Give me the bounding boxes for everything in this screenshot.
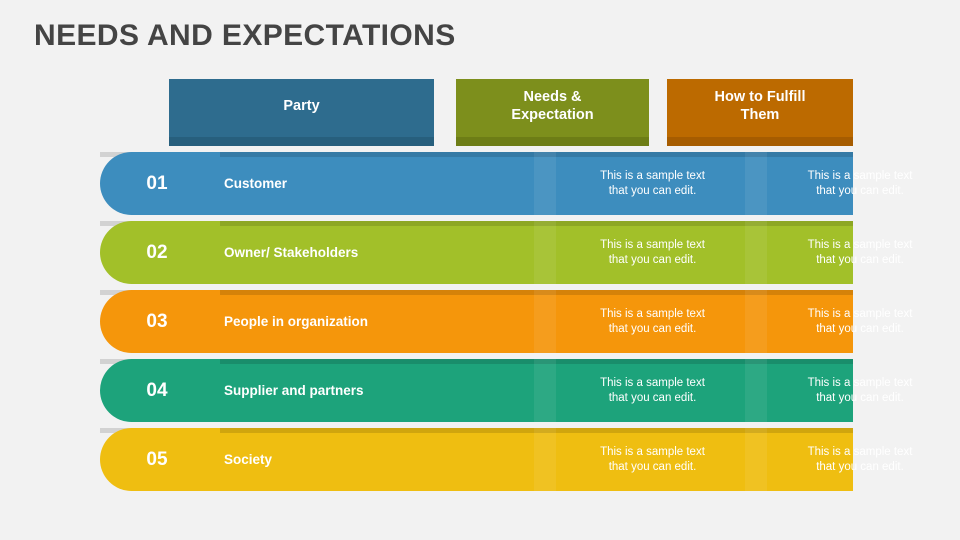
row-fulfill-cell: This is a sample text that you can edit. <box>767 221 953 284</box>
row-separator <box>100 353 853 359</box>
column-header-needs: Needs & Expectation <box>456 79 649 137</box>
column-header-needs-bevel <box>456 137 649 146</box>
table-row[interactable]: 05 Society This is a sample text that yo… <box>100 428 853 491</box>
row-number-label: 01 <box>146 173 167 195</box>
column-header-fulfill: How to Fulfill Them <box>667 79 853 137</box>
column-header-party: Party <box>169 79 434 137</box>
row-number-label: 05 <box>146 449 167 471</box>
row-needs-cell: This is a sample text that you can edit. <box>556 359 749 422</box>
column-header-needs-label: Needs & Expectation <box>511 88 593 124</box>
row-number-badge: 03 <box>100 290 220 353</box>
row-number-badge: 04 <box>100 359 220 422</box>
row-party-label: Supplier and partners <box>224 359 364 422</box>
row-body <box>176 428 853 491</box>
table-row[interactable]: 01 Customer This is a sample text that y… <box>100 152 853 215</box>
row-needs-cell: This is a sample text that you can edit. <box>556 290 749 353</box>
column-header-fulfill-label: How to Fulfill Them <box>714 88 805 124</box>
row-separator <box>100 422 853 428</box>
row-fulfill-cell: This is a sample text that you can edit. <box>767 152 953 215</box>
row-number-badge: 01 <box>100 152 220 215</box>
column-header-fulfill-bevel <box>667 137 853 146</box>
row-number-label: 04 <box>146 380 167 402</box>
row-party-label: Society <box>224 428 272 491</box>
row-party-label: Customer <box>224 152 287 215</box>
row-separator <box>100 284 853 290</box>
row-fulfill-cell: This is a sample text that you can edit. <box>767 428 953 491</box>
table-row[interactable]: 02 Owner/ Stakeholders This is a sample … <box>100 221 853 284</box>
row-number-label: 03 <box>146 311 167 333</box>
row-separator <box>100 215 853 221</box>
row-number-badge: 05 <box>100 428 220 491</box>
row-needs-cell: This is a sample text that you can edit. <box>556 221 749 284</box>
table-row[interactable]: 03 People in organization This is a samp… <box>100 290 853 353</box>
row-fulfill-cell: This is a sample text that you can edit. <box>767 290 953 353</box>
table-row[interactable]: 04 Supplier and partners This is a sampl… <box>100 359 853 422</box>
row-needs-cell: This is a sample text that you can edit. <box>556 152 749 215</box>
row-party-label: People in organization <box>224 290 368 353</box>
slide-canvas: NEEDS AND EXPECTATIONS Party Needs & Exp… <box>0 0 960 540</box>
column-header-party-bevel <box>169 137 434 146</box>
column-header-party-label: Party <box>283 97 319 115</box>
row-party-label: Owner/ Stakeholders <box>224 221 358 284</box>
row-number-badge: 02 <box>100 221 220 284</box>
row-number-label: 02 <box>146 242 167 264</box>
row-fulfill-cell: This is a sample text that you can edit. <box>767 359 953 422</box>
row-needs-cell: This is a sample text that you can edit. <box>556 428 749 491</box>
page-title: NEEDS AND EXPECTATIONS <box>34 18 456 54</box>
